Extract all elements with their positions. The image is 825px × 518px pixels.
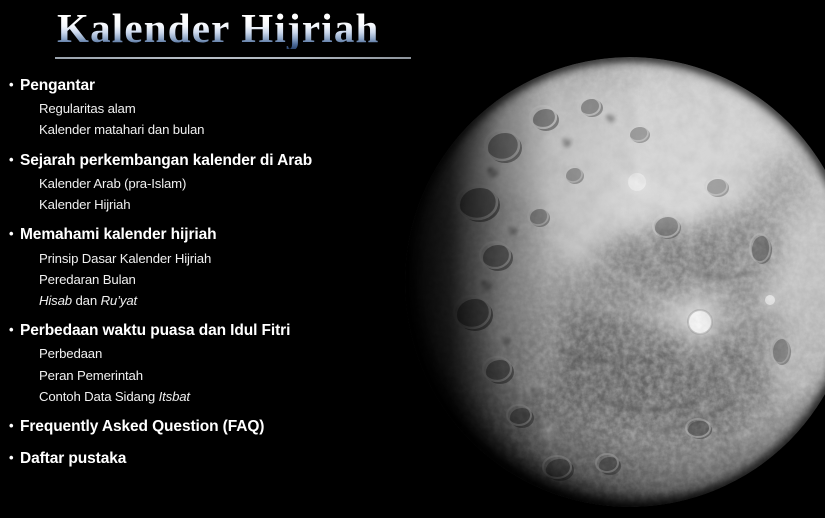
outline-item-level2[interactable]: Regularitas alam — [39, 102, 439, 115]
outline-item-level1[interactable]: •Memahami kalender hijriah — [9, 227, 439, 243]
outline-item-level2[interactable]: Peran Pemerintah — [39, 369, 439, 382]
outline-item-level1[interactable]: •Pengantar — [9, 78, 439, 94]
outline-item-level1-label: Perbedaan waktu puasa dan Idul Fitri — [20, 323, 290, 339]
outline-item-level2-label: Kalender Arab (pra-Islam) — [39, 176, 186, 191]
outline-item-level2[interactable]: Hisab dan Ru’yat — [39, 294, 439, 307]
outline-group: •Sejarah perkembangan kalender di ArabKa… — [9, 153, 439, 212]
outline-item-level2-segment: Contoh Data Sidang — [39, 389, 159, 404]
title-underline-rule — [55, 57, 411, 59]
outline-item-level2[interactable]: Contoh Data Sidang Itsbat — [39, 390, 439, 403]
bullet-dot-icon: • — [9, 227, 20, 241]
outline-item-level1[interactable]: •Perbedaan waktu puasa dan Idul Fitri — [9, 323, 439, 339]
outline-item-level2[interactable]: Kalender Arab (pra-Islam) — [39, 177, 439, 190]
outline-item-level2-label: Regularitas alam — [39, 101, 136, 116]
outline-item-level2[interactable]: Peredaran Bulan — [39, 273, 439, 286]
outline-group: •Daftar pustaka — [9, 451, 439, 467]
outline-item-level1[interactable]: •Frequently Asked Question (FAQ) — [9, 419, 439, 435]
outline-item-level1-label: Frequently Asked Question (FAQ) — [20, 419, 264, 435]
presentation-slide: Kalender Hijriah •PengantarRegularitas a… — [0, 0, 825, 518]
page-title: Kalender Hijriah — [57, 8, 457, 49]
bullet-dot-icon: • — [9, 153, 20, 167]
bullet-dot-icon: • — [9, 323, 20, 337]
outline-item-level2-label: Kalender Hijriah — [39, 197, 130, 212]
outline-item-level2[interactable]: Perbedaan — [39, 347, 439, 360]
outline-item-level2[interactable]: Prinsip Dasar Kalender Hijriah — [39, 252, 439, 265]
outline-item-level2-label: Peran Pemerintah — [39, 368, 143, 383]
outline-group: •Memahami kalender hijriahPrinsip Dasar … — [9, 227, 439, 307]
outline-item-level2-segment: dan — [72, 293, 101, 308]
bullet-dot-icon: • — [9, 451, 20, 465]
bullet-dot-icon: • — [9, 78, 20, 92]
bullet-dot-icon: • — [9, 419, 20, 433]
outline-item-level2-label: Peredaran Bulan — [39, 272, 136, 287]
outline-item-level1-label: Memahami kalender hijriah — [20, 227, 217, 243]
outline-item-level1-label: Daftar pustaka — [20, 451, 126, 467]
outline-item-level2-label: Kalender matahari dan bulan — [39, 122, 204, 137]
outline-item-level1-label: Sejarah perkembangan kalender di Arab — [20, 153, 312, 169]
title-block: Kalender Hijriah — [57, 8, 457, 49]
outline-item-level2-segment: Itsbat — [159, 389, 190, 404]
outline-item-level2-segment: Ru’yat — [101, 293, 137, 308]
outline-list: •PengantarRegularitas alamKalender matah… — [9, 78, 439, 468]
outline-item-level2[interactable]: Kalender Hijriah — [39, 198, 439, 211]
outline-item-level2-segment: Hisab — [39, 293, 72, 308]
outline-group: •Perbedaan waktu puasa dan Idul FitriPer… — [9, 323, 439, 403]
outline-item-level2[interactable]: Kalender matahari dan bulan — [39, 123, 439, 136]
outline-item-level1[interactable]: •Daftar pustaka — [9, 451, 439, 467]
outline-item-level1-label: Pengantar — [20, 78, 95, 94]
outline-item-level2-label: Perbedaan — [39, 346, 102, 361]
outline-group: •Frequently Asked Question (FAQ) — [9, 419, 439, 435]
outline-group: •PengantarRegularitas alamKalender matah… — [9, 78, 439, 137]
outline-item-level1[interactable]: •Sejarah perkembangan kalender di Arab — [9, 153, 439, 169]
outline-item-level2-label: Prinsip Dasar Kalender Hijriah — [39, 251, 211, 266]
